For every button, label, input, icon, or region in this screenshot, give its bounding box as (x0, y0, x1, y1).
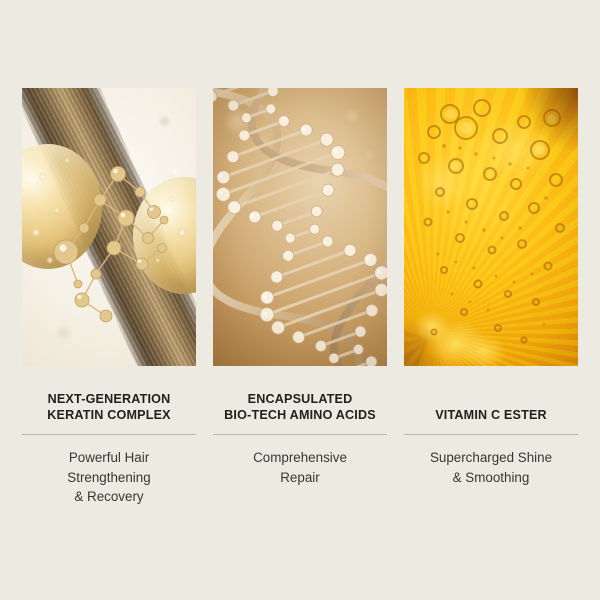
divider-rule-keratin (22, 434, 196, 435)
heading-line-1: NEXT-GENERATION (22, 391, 196, 407)
heading-line-1: VITAMIN C ESTER (404, 407, 578, 423)
column-bio-tech-amino-acids: ENCAPSULATED BIO-TECH AMINO ACIDS Compre… (213, 88, 387, 507)
column-keratin-complex: NEXT-GENERATION KERATIN COMPLEX Powerful… (22, 88, 196, 507)
bio-tech-amino-acids-benefit: Comprehensive Repair (213, 448, 387, 487)
keratin-complex-benefit: Powerful Hair Strengthening & Recovery (22, 448, 196, 507)
citrus-corner-shadow (404, 88, 578, 366)
column-vitamin-c-ester: VITAMIN C ESTER Supercharged Shine & Smo… (404, 88, 578, 507)
bio-tech-amino-acids-image (213, 88, 387, 366)
vitamin-c-ester-heading: VITAMIN C ESTER (404, 387, 578, 423)
heading-line-1: ENCAPSULATED (213, 391, 387, 407)
benefit-line-2: Strengthening (22, 468, 196, 488)
vitamin-c-ester-image (404, 88, 578, 366)
vitamin-c-ester-benefit: Supercharged Shine & Smoothing (404, 448, 578, 487)
divider-rule-amino-acids (213, 434, 387, 435)
keratin-complex-heading: NEXT-GENERATION KERATIN COMPLEX (22, 387, 196, 423)
heading-line-2: BIO-TECH AMINO ACIDS (213, 407, 387, 423)
benefit-line-2: & Smoothing (404, 468, 578, 488)
benefit-line-2: Repair (213, 468, 387, 488)
benefit-line-1: Comprehensive (213, 448, 387, 468)
columns-container: NEXT-GENERATION KERATIN COMPLEX Powerful… (22, 88, 578, 507)
heading-line-2: KERATIN COMPLEX (22, 407, 196, 423)
divider-rule-vitamin-c (404, 434, 578, 435)
molecule-lattice-overlay (22, 88, 196, 366)
bio-tech-amino-acids-heading: ENCAPSULATED BIO-TECH AMINO ACIDS (213, 387, 387, 423)
benefit-line-3: & Recovery (22, 487, 196, 507)
ingredient-benefits-panel: NEXT-GENERATION KERATIN COMPLEX Powerful… (0, 0, 600, 600)
benefit-line-1: Powerful Hair (22, 448, 196, 468)
benefit-line-1: Supercharged Shine (404, 448, 578, 468)
dna-vignette-layer (213, 88, 387, 366)
keratin-complex-image (22, 88, 196, 366)
